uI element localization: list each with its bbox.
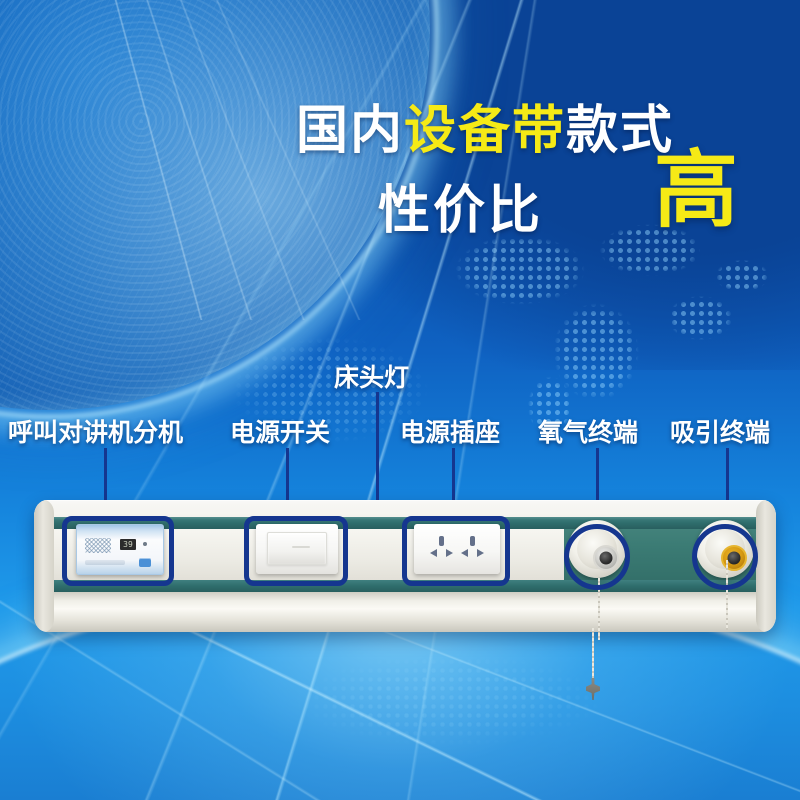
callout-label-bed-lamp: 床头灯 [334,358,409,394]
callout-label-power-socket: 电源插座 [400,413,500,449]
highlight-circle-oxygen [564,524,630,590]
promo-banner: 国内设备带款式 性价比 高 呼叫对讲机分机 电源开关 床头灯 电源插座 氧气终端… [0,0,800,800]
headline-text-white-1: 国内 [296,102,404,160]
headline-text-accent: 设备带 [404,102,566,160]
highlight-box-power-switch [244,516,348,586]
panel-end-cap-right [756,500,776,632]
headline-line-1: 国内设备带款式 [296,88,674,163]
panel-bottom-rail [34,592,776,632]
panel-end-cap-left [34,500,54,632]
highlight-box-power-socket [402,516,510,586]
halftone-dots-mid [180,300,480,480]
callout-label-suction: 吸引终端 [670,413,770,449]
highlight-circle-suction [692,524,758,590]
callout-label-oxygen: 氧气终端 [538,413,638,449]
headline-line-2: 性价比 [378,168,543,243]
callout-label-intercom: 呼叫对讲机分机 [8,413,183,449]
cord-extension [592,628,594,684]
highlight-box-intercom [62,516,174,586]
callout-label-power-switch: 电源开关 [230,413,330,449]
headline-accent-character: 高 [654,148,738,232]
